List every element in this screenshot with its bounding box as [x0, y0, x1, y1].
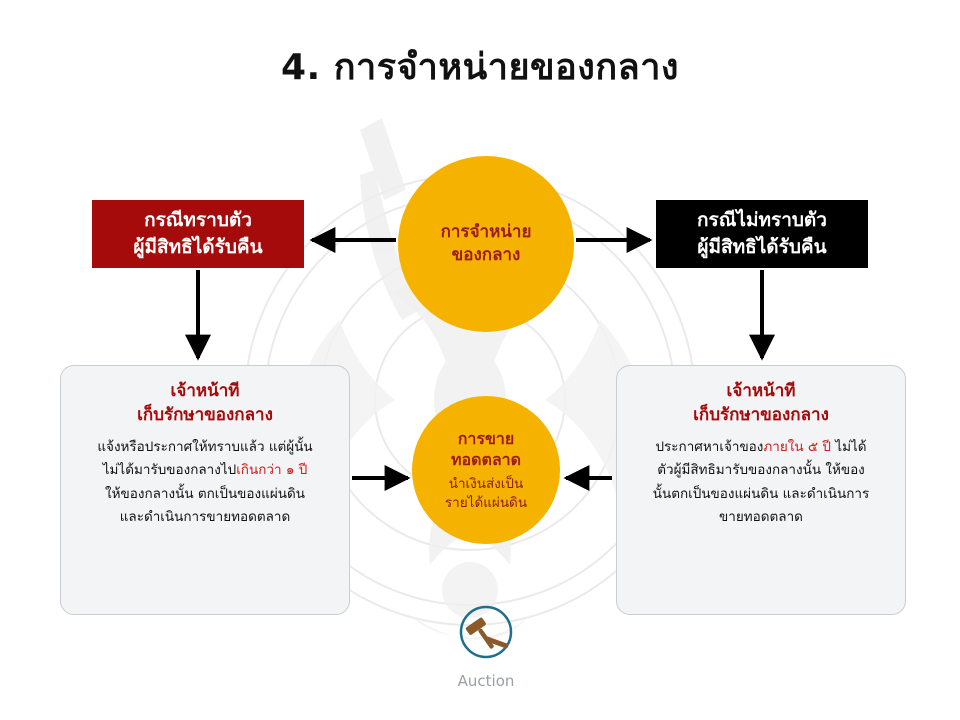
- panel-right-heading-line2: เก็บรักษาของกลาง: [629, 404, 893, 428]
- panel-right-body-line2: ตัวผู้มีสิทธิมารับของกลางนั้น ให้ของ: [629, 459, 893, 483]
- auction-logo: Auction: [436, 604, 536, 690]
- node-disposal-line1: การจำหน่าย: [441, 221, 532, 244]
- banner-right-line1: กรณีไม่ทราบตัว: [697, 207, 827, 234]
- banner-left-line1: กรณีทราบตัว: [144, 207, 252, 234]
- panel-left-heading: เจ้าหน้าที เก็บรักษาของกลาง: [73, 380, 337, 428]
- panel-left-body-line2: ไม่ได้มารับของกลางไปเกินกว่า ๑ ปี: [73, 459, 337, 483]
- panel-right-body-line1-tail: ไม่ได้: [831, 439, 867, 455]
- banner-known-claimant[interactable]: กรณีทราบตัว ผู้มีสิทธิได้รับคืน: [92, 200, 304, 268]
- banner-unknown-claimant[interactable]: กรณีไม่ทราบตัว ผู้มีสิทธิได้รับคืน: [656, 200, 868, 268]
- panel-left-body-line1: แจ้งหรือประกาศให้ทราบแล้ว แต่ผู้นั้น: [73, 436, 337, 460]
- banner-left-line2: ผู้มีสิทธิได้รับคืน: [133, 234, 262, 261]
- panel-right-body-line1: ประกาศหาเจ้าของภายใน ๕ ปี ไม่ได้: [629, 436, 893, 460]
- node-auction-sub: นำเงินส่งเป็น รายได้แผ่นดิน: [445, 475, 527, 513]
- slide-canvas: 4. การจำหน่ายของกลาง การจำหน่าย ของกลาง …: [0, 0, 960, 720]
- panel-right-heading-line1: เจ้าหน้าที: [629, 380, 893, 404]
- node-disposal-line2: ของกลาง: [452, 244, 521, 267]
- gavel-icon: [451, 604, 521, 666]
- node-auction-sale[interactable]: การขาย ทอดตลาด นำเงินส่งเป็น รายได้แผ่นด…: [412, 396, 560, 544]
- panel-left-body-line4: และดำเนินการขายทอดตลาด: [73, 506, 337, 530]
- auction-caption: Auction: [436, 672, 536, 690]
- panel-left-heading-line1: เจ้าหน้าที: [73, 380, 337, 404]
- panel-known-claimant-procedure[interactable]: เจ้าหน้าที เก็บรักษาของกลาง แจ้งหรือประก…: [60, 365, 350, 615]
- panel-unknown-claimant-procedure[interactable]: เจ้าหน้าที เก็บรักษาของกลาง ประกาศหาเจ้า…: [616, 365, 906, 615]
- panel-right-body-line4: ขายทอดตลาด: [629, 506, 893, 530]
- panel-right-body-line1-highlight: ภายใน ๕ ปี: [763, 439, 831, 455]
- node-auction-sub2: รายได้แผ่นดิน: [445, 494, 527, 513]
- panel-right-body: ประกาศหาเจ้าของภายใน ๕ ปี ไม่ได้ ตัวผู้ม…: [629, 436, 893, 531]
- banner-right-line2: ผู้มีสิทธิได้รับคืน: [697, 234, 826, 261]
- panel-right-heading: เจ้าหน้าที เก็บรักษาของกลาง: [629, 380, 893, 428]
- panel-right-body-line3: นั้นตกเป็นของแผ่นดิน และดำเนินการ: [629, 483, 893, 507]
- panel-left-heading-line2: เก็บรักษาของกลาง: [73, 404, 337, 428]
- panel-left-body: แจ้งหรือประกาศให้ทราบแล้ว แต่ผู้นั้น ไม่…: [73, 436, 337, 531]
- node-auction-line2: ทอดตลาด: [451, 449, 521, 471]
- panel-right-body-line1-text: ประกาศหาเจ้าของ: [655, 439, 763, 455]
- panel-left-body-line2-highlight: เกินกว่า ๑ ปี: [236, 462, 307, 478]
- node-disposal-of-exhibits[interactable]: การจำหน่าย ของกลาง: [398, 156, 574, 332]
- node-auction-line1: การขาย: [458, 428, 515, 450]
- panel-left-body-line2-text: ไม่ได้มารับของกลางไป: [103, 462, 236, 478]
- panel-left-body-line3: ให้ของกลางนั้น ตกเป็นของแผ่นดิน: [73, 483, 337, 507]
- page-title: 4. การจำหน่ายของกลาง: [0, 38, 960, 95]
- node-auction-sub1: นำเงินส่งเป็น: [445, 475, 527, 494]
